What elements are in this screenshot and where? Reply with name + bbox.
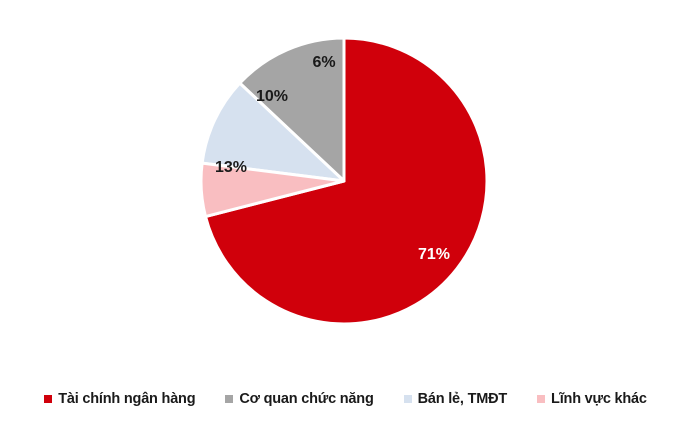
pie-slice-label: 6%: [312, 54, 335, 71]
chart-legend: Tài chính ngân hàngCơ quan chức năngBán …: [0, 386, 691, 412]
legend-item[interactable]: Lĩnh vực khác: [537, 391, 647, 407]
pie-svg: 71%13%10%6%: [0, 0, 691, 370]
legend-item[interactable]: Tài chính ngân hàng: [44, 391, 195, 407]
legend-swatch-icon: [44, 395, 52, 403]
legend-swatch-icon: [225, 395, 233, 403]
legend-item-label: Cơ quan chức năng: [239, 391, 373, 407]
pie-slice-label: 71%: [418, 246, 450, 263]
pie-slice-label: 13%: [215, 159, 247, 176]
legend-item-label: Tài chính ngân hàng: [58, 391, 195, 407]
legend-swatch-icon: [404, 395, 412, 403]
legend-item-label: Lĩnh vực khác: [551, 391, 647, 407]
legend-item-label: Bán lẻ, TMĐT: [418, 391, 507, 407]
legend-item[interactable]: Bán lẻ, TMĐT: [404, 391, 507, 407]
pie-plot-area: 71%13%10%6%: [0, 0, 691, 370]
legend-item[interactable]: Cơ quan chức năng: [225, 391, 373, 407]
pie-slice-label: 10%: [256, 88, 288, 105]
pie-chart: 71%13%10%6% Tài chính ngân hàngCơ quan c…: [0, 0, 691, 438]
pie-slices-group: [201, 38, 487, 324]
legend-swatch-icon: [537, 395, 545, 403]
